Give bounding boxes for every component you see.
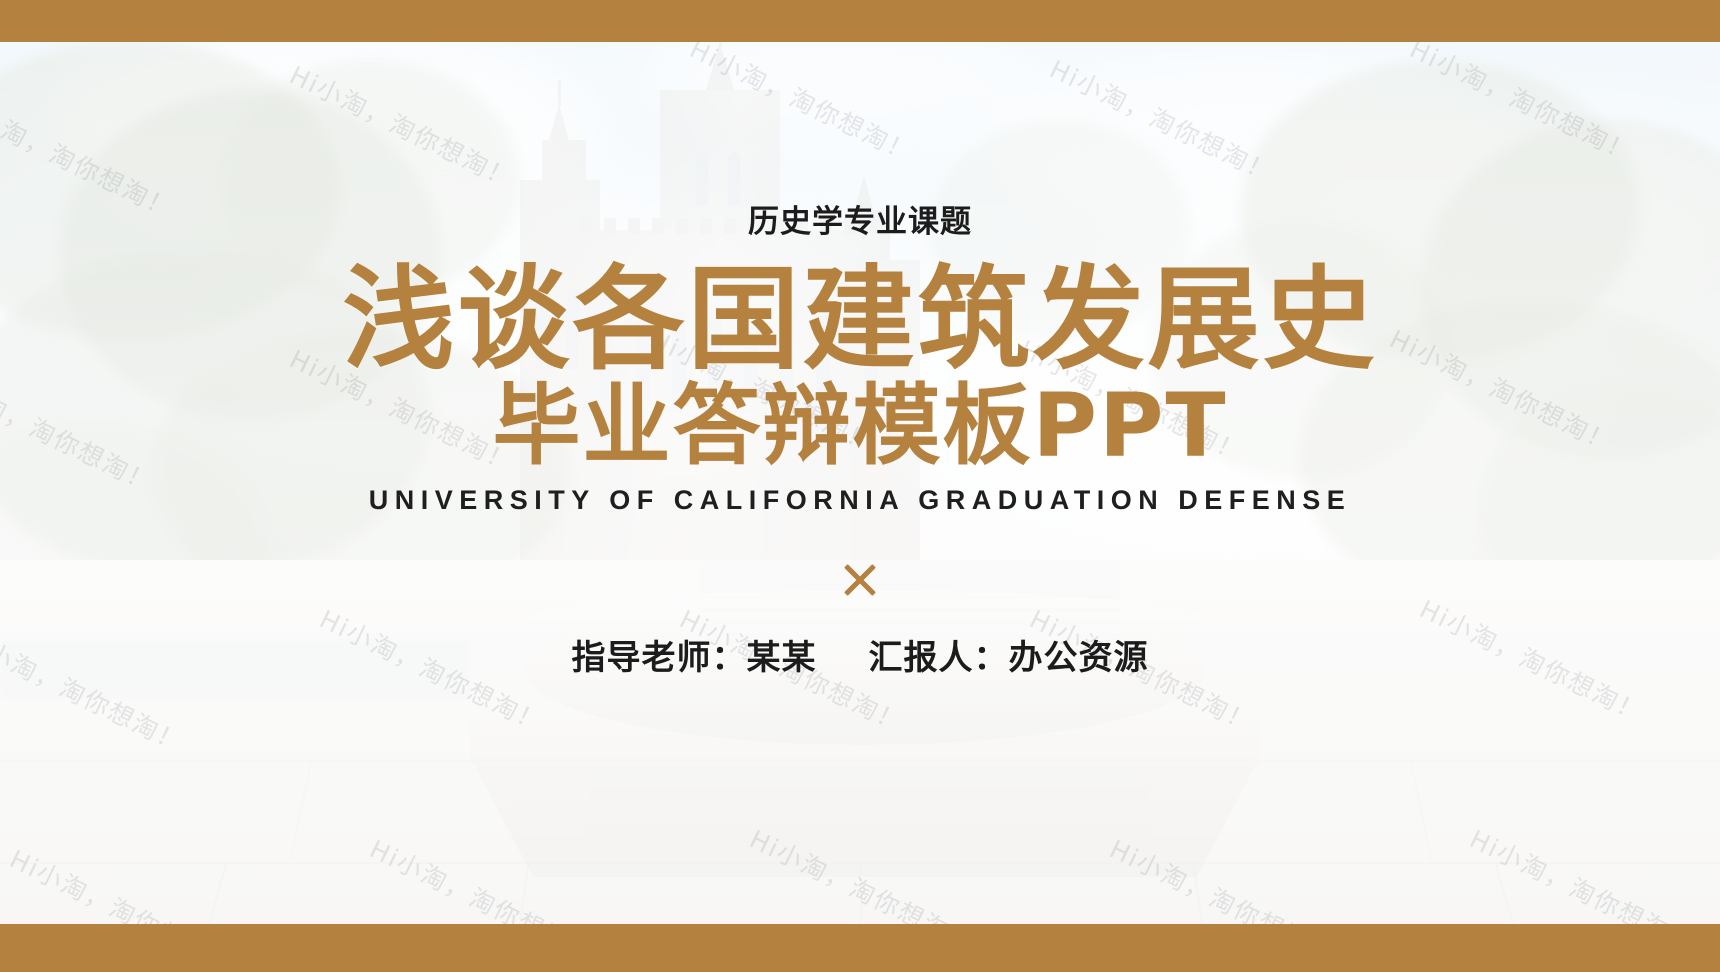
subject-eyebrow: 历史学专业课题 bbox=[748, 196, 972, 241]
presentation-slide: Hi小淘，淘你想淘！Hi小淘，淘你想淘！Hi小淘，淘你想淘！Hi小淘，淘你想淘！… bbox=[0, 0, 1720, 972]
x-divider-icon bbox=[838, 558, 882, 602]
page-title: 浅谈各国建筑发展史 bbox=[343, 263, 1378, 377]
advisor-label: 指导老师：某某 bbox=[572, 630, 817, 679]
byline: 指导老师：某某 汇报人：办公资源 bbox=[572, 630, 1149, 679]
page-subtitle: 毕业答辩模板PPT bbox=[492, 381, 1227, 471]
english-subtitle: UNIVERSITY OF CALIFORNIA GRADUATION DEFE… bbox=[369, 485, 1352, 516]
presenter-label: 汇报人：办公资源 bbox=[869, 630, 1149, 679]
slide-content: 历史学专业课题 浅谈各国建筑发展史 毕业答辩模板PPT UNIVERSITY O… bbox=[0, 0, 1720, 972]
